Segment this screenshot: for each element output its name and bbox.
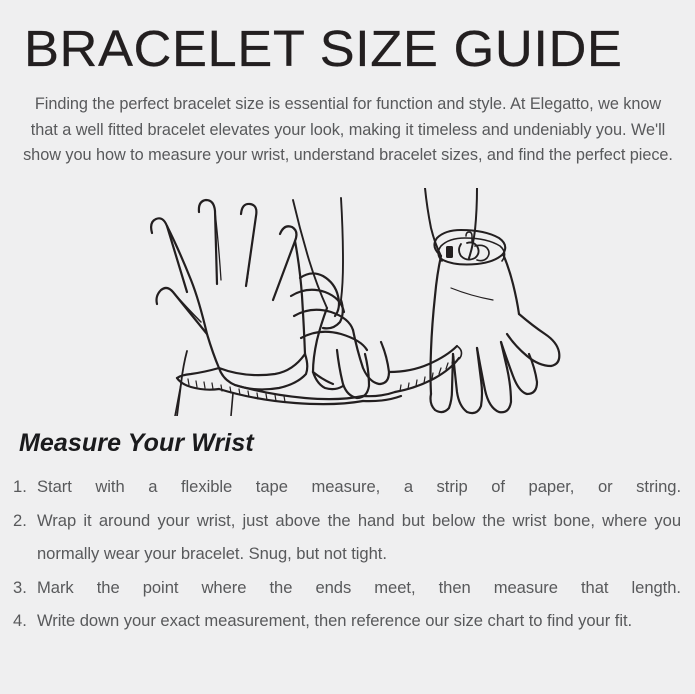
- bracelet-size-guide-page: BRACELET SIZE GUIDE Finding the perfect …: [0, 0, 695, 694]
- list-item: 3. Mark the point where the ends meet, t…: [13, 571, 681, 605]
- step-number: 2.: [13, 504, 35, 538]
- step-text: Wrap it around your wrist, just above th…: [37, 504, 681, 571]
- step-number: 3.: [13, 571, 35, 605]
- illustration-svg: [95, 188, 605, 416]
- step-number: 4.: [13, 604, 35, 638]
- wrist-measuring-illustration: [95, 188, 605, 416]
- list-item: 4. Write down your exact measurement, th…: [13, 604, 681, 638]
- measure-your-wrist-heading: Measure Your Wrist: [19, 427, 254, 459]
- list-item: 2. Wrap it around your wrist, just above…: [13, 504, 681, 571]
- step-number: 1.: [13, 470, 35, 504]
- list-item: 1. Start with a flexible tape measure, a…: [13, 470, 681, 504]
- step-text: Start with a flexible tape measure, a st…: [37, 470, 681, 504]
- page-title: BRACELET SIZE GUIDE: [24, 20, 695, 78]
- step-text: Mark the point where the ends meet, then…: [37, 571, 681, 605]
- measure-steps-list: 1. Start with a flexible tape measure, a…: [13, 470, 681, 638]
- step-text: Write down your exact measurement, then …: [37, 604, 681, 638]
- intro-paragraph: Finding the perfect bracelet size is ess…: [20, 92, 676, 169]
